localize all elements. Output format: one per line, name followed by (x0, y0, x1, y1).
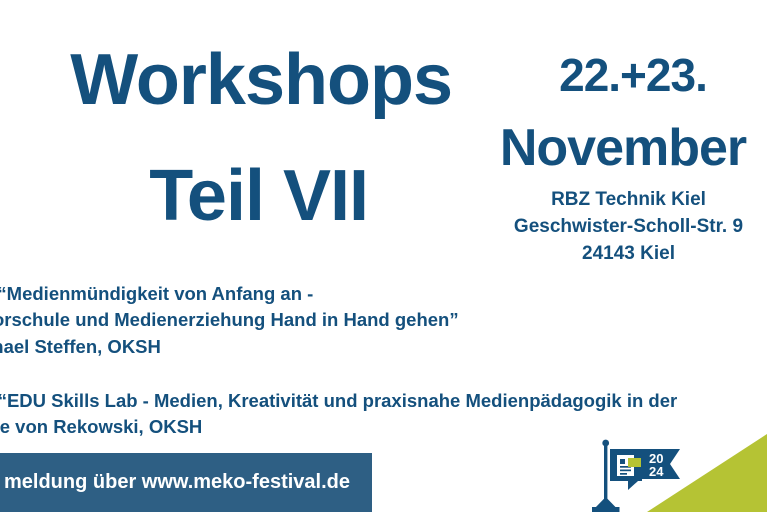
venue-name: RBZ Technik Kiel (490, 187, 767, 214)
workshop-1-title-line-2: Vorschule und Medienerziehung Hand in Ha… (0, 307, 459, 333)
page-title-line-2: Teil VII (0, 160, 368, 232)
workshop-1-presenter: chael Steffen, OKSH (0, 334, 459, 360)
workshop-1-title-line-1: 2 “Medienmündigkeit von Anfang an - (0, 281, 459, 307)
venue-address-block: RBZ Technik Kiel Geschwister-Scholl-Str.… (490, 187, 767, 268)
workshop-entry-2: 13 “EDU Skills Lab - Medien, Kreativität… (0, 388, 677, 441)
event-date-days: 22.+23. (500, 48, 766, 102)
logo-year-bottom: 24 (649, 464, 664, 479)
workshop-2-title-line-1: 13 “EDU Skills Lab - Medien, Kreativität… (0, 388, 677, 414)
page-title-line-1: Workshops (0, 44, 452, 116)
workshop-entry-1: 2 “Medienmündigkeit von Anfang an - Vors… (0, 281, 459, 360)
meko-festival-logo: 20 24 (592, 437, 684, 512)
venue-street: Geschwister-Scholl-Str. 9 (490, 214, 767, 241)
registration-cta-text: meldung über www.meko-festival.de (4, 471, 350, 494)
flag-logo-icon: 20 24 (592, 437, 684, 512)
venue-city: 24143 Kiel (490, 241, 767, 268)
slide-canvas: Workshops Teil VII 22.+23. November RBZ … (0, 0, 767, 512)
workshop-2-presenter: bine von Rekowski, OKSH (0, 414, 677, 440)
registration-cta-banner[interactable]: meldung über www.meko-festival.de (0, 453, 372, 512)
event-date-month: November (478, 118, 767, 178)
